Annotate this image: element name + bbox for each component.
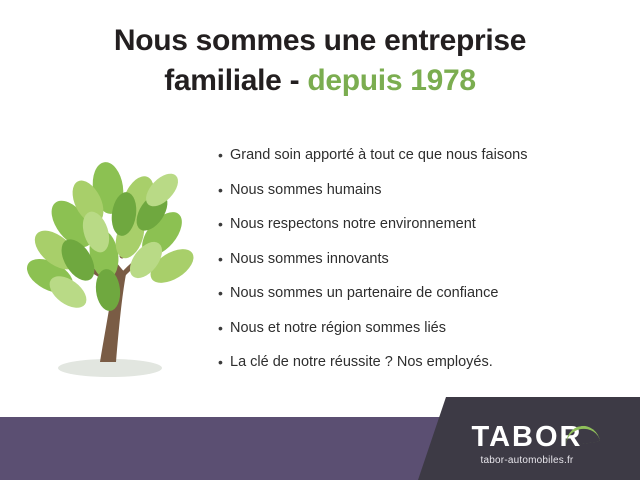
bullet-list: • Grand soin apporté à tout ce que nous …: [218, 146, 630, 388]
title-highlight: depuis 1978: [307, 64, 475, 97]
list-item: • Grand soin apporté à tout ce que nous …: [218, 146, 630, 165]
list-item-label: Nous et notre région sommes liés: [230, 319, 446, 338]
list-item: • Nous sommes innovants: [218, 250, 630, 269]
bullet-marker-icon: •: [218, 146, 230, 165]
page-title: Nous sommes une entreprise familiale - d…: [0, 22, 640, 99]
bullet-marker-icon: •: [218, 250, 230, 269]
bullet-marker-icon: •: [218, 353, 230, 372]
list-item-label: Nous sommes un partenaire de confiance: [230, 284, 498, 303]
bullet-marker-icon: •: [218, 319, 230, 338]
list-item-label: Nous sommes humains: [230, 181, 382, 200]
list-item: • Nous respectons notre environnement: [218, 215, 630, 234]
list-item-label: La clé de notre réussite ? Nos employés.: [230, 353, 493, 372]
list-item: • Nous et notre région sommes liés: [218, 319, 630, 338]
green-tree-illustration: [12, 150, 212, 385]
list-item: • Nous sommes un partenaire de confiance: [218, 284, 630, 303]
list-item-label: Grand soin apporté à tout ce que nous fa…: [230, 146, 527, 165]
list-item: • La clé de notre réussite ? Nos employé…: [218, 353, 630, 372]
title-line-1: Nous sommes une entreprise: [0, 22, 640, 60]
bullet-marker-icon: •: [218, 284, 230, 303]
title-line-2: familiale - depuis 1978: [0, 62, 640, 100]
bullet-marker-icon: •: [218, 215, 230, 234]
brand-url: tabor-automobiles.fr: [432, 455, 622, 466]
list-item-label: Nous sommes innovants: [230, 250, 389, 269]
brand-name: TABOR: [472, 422, 583, 452]
list-item: • Nous sommes humains: [218, 181, 630, 200]
title-line-2-prefix: familiale -: [164, 64, 299, 97]
bullet-marker-icon: •: [218, 181, 230, 200]
list-item-label: Nous respectons notre environnement: [230, 215, 476, 234]
slide-root: Nous sommes une entreprise familiale - d…: [0, 0, 640, 480]
